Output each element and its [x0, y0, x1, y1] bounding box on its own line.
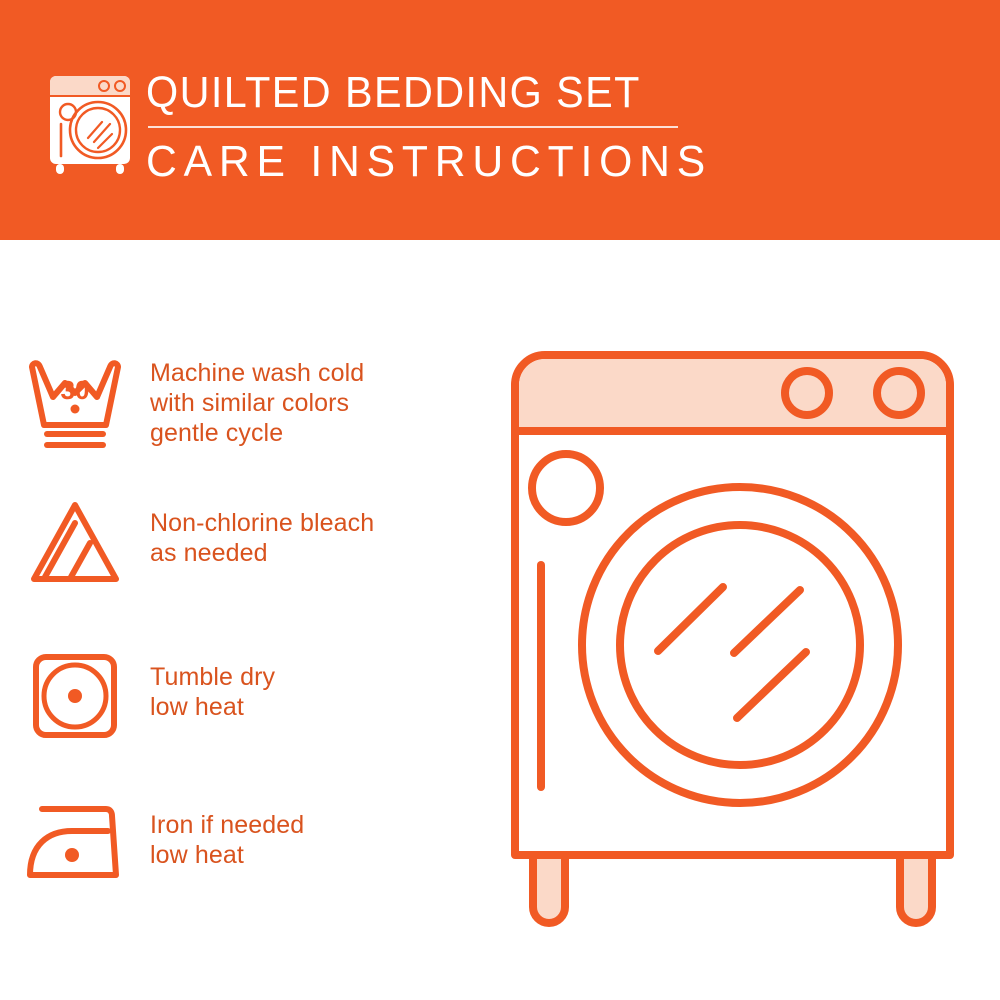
- care-label-line: low heat: [150, 692, 275, 722]
- care-label-line: low heat: [150, 840, 304, 870]
- page-subtitle: CARE INSTRUCTIONS: [146, 136, 728, 188]
- care-label-line: as needed: [150, 538, 374, 568]
- non-chlorine-bleach-triangle-icon: [0, 488, 150, 598]
- wash-temperature-value: 30: [61, 375, 90, 405]
- care-instruction-list: 30 Machine wash cold with similar colors…: [0, 240, 480, 1000]
- header-text-block: QUILTED BEDDING SET CARE INSTRUCTIONS: [146, 68, 746, 188]
- title-divider: [148, 126, 678, 128]
- care-label-line: Iron if needed: [150, 810, 304, 840]
- page-title: QUILTED BEDDING SET: [146, 68, 710, 118]
- care-label-line: Tumble dry: [150, 662, 275, 692]
- care-label-tumble-dry: Tumble dry low heat: [150, 640, 275, 722]
- care-label-bleach: Non-chlorine bleach as needed: [150, 488, 374, 568]
- tumble-dry-low-icon: [0, 640, 150, 750]
- care-row-tumble-dry: Tumble dry low heat: [0, 640, 480, 750]
- leg-right: [900, 855, 932, 923]
- header-band: QUILTED BEDDING SET CARE INSTRUCTIONS: [0, 0, 1000, 240]
- control-panel: [519, 359, 946, 431]
- front-load-washing-machine-illustration: [480, 325, 990, 945]
- care-label-iron: Iron if needed low heat: [150, 788, 304, 870]
- care-row-machine-wash: 30 Machine wash cold with similar colors…: [0, 348, 480, 458]
- leg-left: [533, 855, 565, 923]
- care-label-line: Machine wash cold: [150, 358, 364, 388]
- care-label-line: with similar colors: [150, 388, 364, 418]
- care-instructions-infographic: QUILTED BEDDING SET CARE INSTRUCTIONS 30…: [0, 0, 1000, 1000]
- care-label-machine-wash: Machine wash cold with similar colors ge…: [150, 348, 364, 448]
- care-row-bleach: Non-chlorine bleach as needed: [0, 488, 480, 598]
- wash-tub-30-icon: 30: [0, 348, 150, 458]
- washing-machine-icon: [42, 72, 142, 176]
- iron-low-heat-icon: [0, 788, 150, 898]
- care-label-line: Non-chlorine bleach: [150, 508, 374, 538]
- care-label-line: gentle cycle: [150, 418, 364, 448]
- care-row-iron: Iron if needed low heat: [0, 788, 480, 898]
